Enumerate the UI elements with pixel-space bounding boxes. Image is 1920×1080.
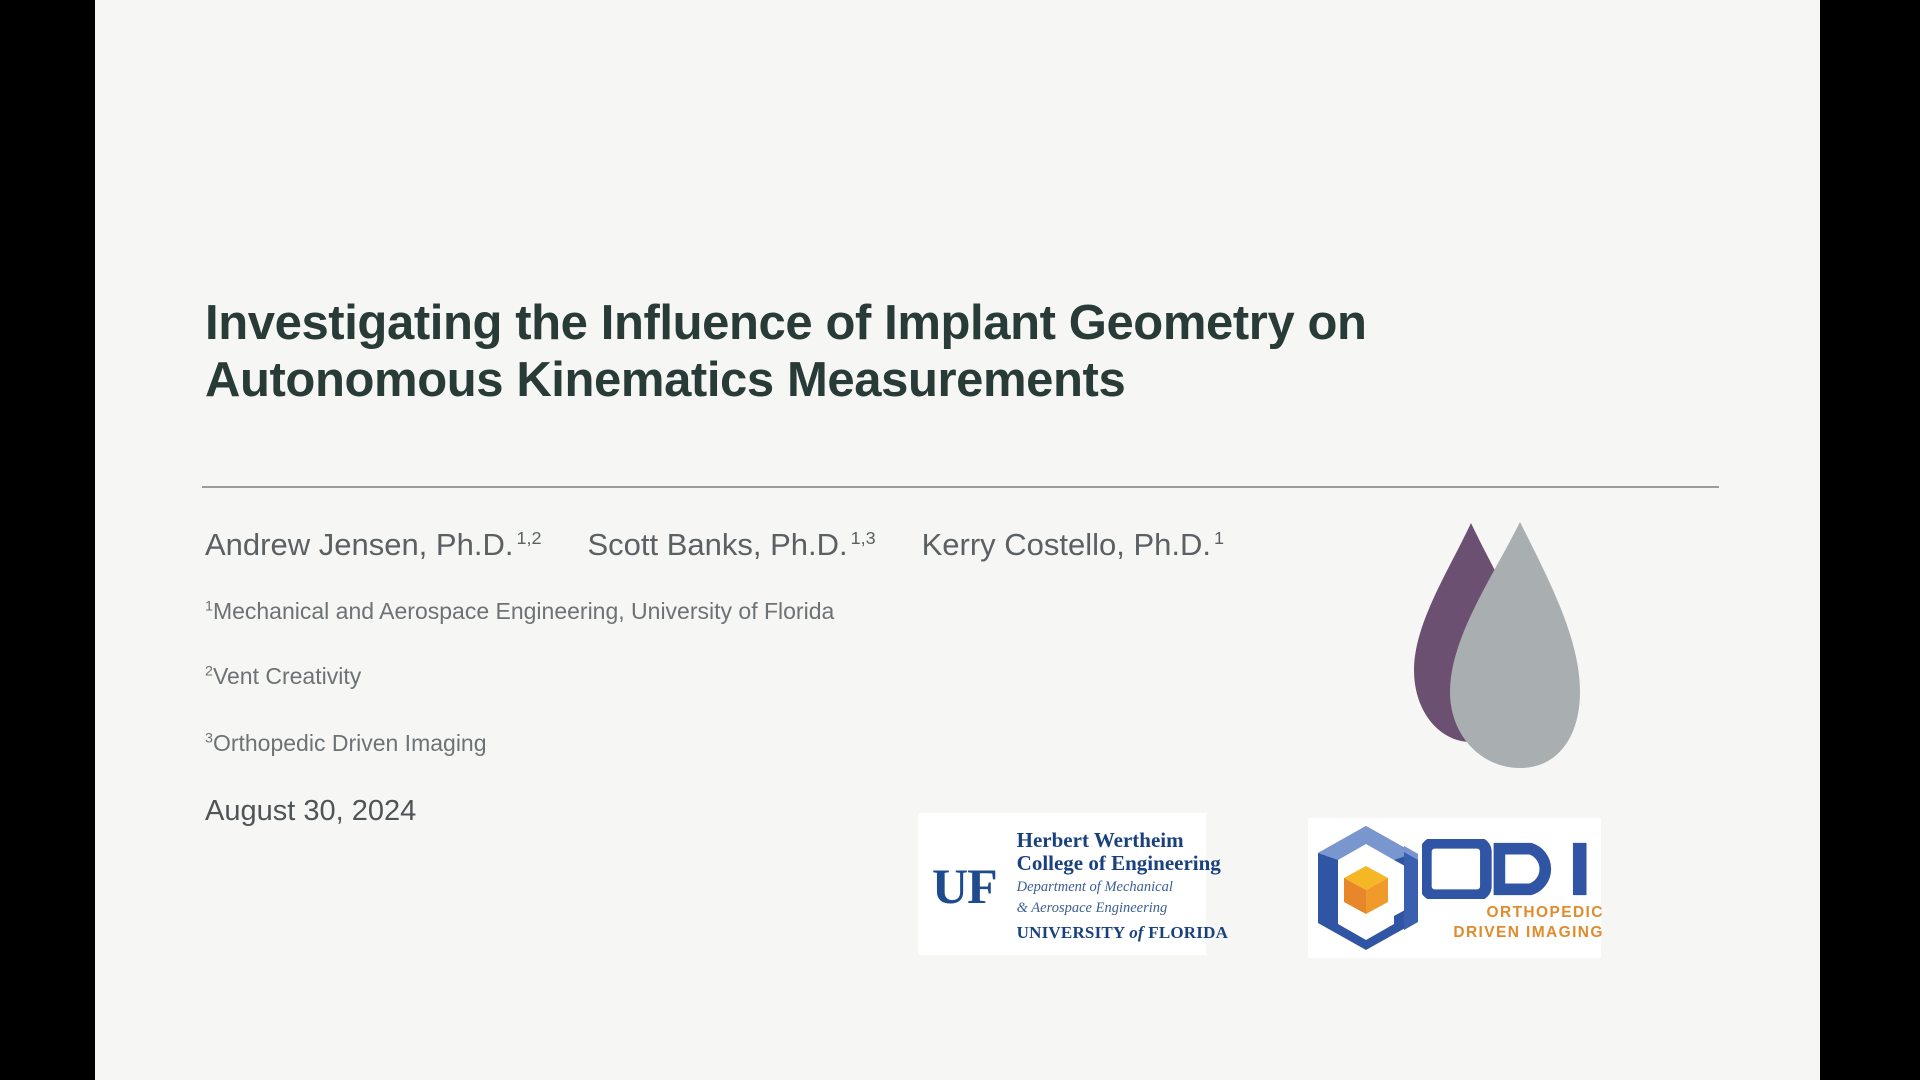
author-name: Scott Banks, Ph.D. — [587, 527, 847, 562]
author-item: Scott Banks, Ph.D.1,3 — [587, 527, 875, 563]
author-name: Andrew Jensen, Ph.D. — [205, 527, 513, 562]
author-affiliation-marker: 1,2 — [516, 528, 541, 548]
uf-university-post: FLORIDA — [1144, 923, 1228, 942]
uf-university-of: of — [1129, 923, 1144, 942]
odi-wordmark — [1422, 839, 1606, 899]
title-divider — [202, 486, 1719, 488]
presentation-slide: Investigating the Influence of Implant G… — [95, 0, 1820, 1080]
author-item: Kerry Costello, Ph.D.1 — [922, 527, 1224, 563]
uf-department-line-1: Department of Mechanical — [1017, 879, 1228, 896]
affiliation-text: Vent Creativity — [213, 663, 361, 689]
uf-university-line: UNIVERSITY of FLORIDA — [1017, 923, 1228, 943]
odi-tagline-line-1: ORTHOPEDIC — [1453, 903, 1604, 923]
uf-line-1: Herbert Wertheim — [1017, 829, 1228, 851]
uf-line-2: College of Engineering — [1017, 852, 1228, 874]
author-affiliation-marker: 1,3 — [851, 528, 876, 548]
odi-hexagon-cube-icon — [1308, 822, 1426, 954]
author-item: Andrew Jensen, Ph.D.1,2 — [205, 527, 541, 563]
uf-college-of-engineering-logo: UF Herbert Wertheim College of Engineeri… — [918, 813, 1206, 955]
author-affiliation-marker: 1 — [1214, 528, 1224, 548]
odi-logo: ORTHOPEDIC DRIVEN IMAGING — [1308, 818, 1601, 958]
odi-wordmark-block: ORTHOPEDIC DRIVEN IMAGING — [1422, 833, 1606, 943]
title-line-1: Investigating the Influence of Implant G… — [205, 295, 1535, 352]
uf-logo-text: Herbert Wertheim College of Engineering … — [1017, 829, 1228, 943]
affiliation-marker: 2 — [205, 663, 213, 679]
affiliation-text: Orthopedic Driven Imaging — [213, 730, 487, 756]
affiliation-marker: 1 — [205, 598, 213, 614]
affiliation-marker: 3 — [205, 730, 213, 746]
affiliation-item: 3Orthopedic Driven Imaging — [205, 730, 487, 757]
teardrop-icon — [1408, 520, 1583, 770]
odi-tagline-line-2: DRIVEN IMAGING — [1453, 923, 1604, 943]
uf-department-line-2: & Aerospace Engineering — [1017, 900, 1228, 917]
affiliation-text: Mechanical and Aerospace Engineering, Un… — [213, 598, 834, 624]
screen-stage: Investigating the Influence of Implant G… — [0, 0, 1920, 1080]
presentation-date: August 30, 2024 — [205, 795, 416, 828]
page-title: Investigating the Influence of Implant G… — [205, 295, 1535, 410]
author-name: Kerry Costello, Ph.D. — [922, 527, 1211, 562]
authors-list: Andrew Jensen, Ph.D.1,2 Scott Banks, Ph.… — [205, 527, 1224, 563]
affiliation-item: 1Mechanical and Aerospace Engineering, U… — [205, 598, 834, 625]
uf-monogram: UF — [918, 861, 1007, 911]
title-line-2: Autonomous Kinematics Measurements — [205, 352, 1535, 409]
uf-university-pre: UNIVERSITY — [1017, 923, 1130, 942]
vent-creativity-logo — [1408, 520, 1583, 770]
odi-tagline: ORTHOPEDIC DRIVEN IMAGING — [1453, 903, 1606, 943]
affiliation-item: 2Vent Creativity — [205, 663, 361, 690]
